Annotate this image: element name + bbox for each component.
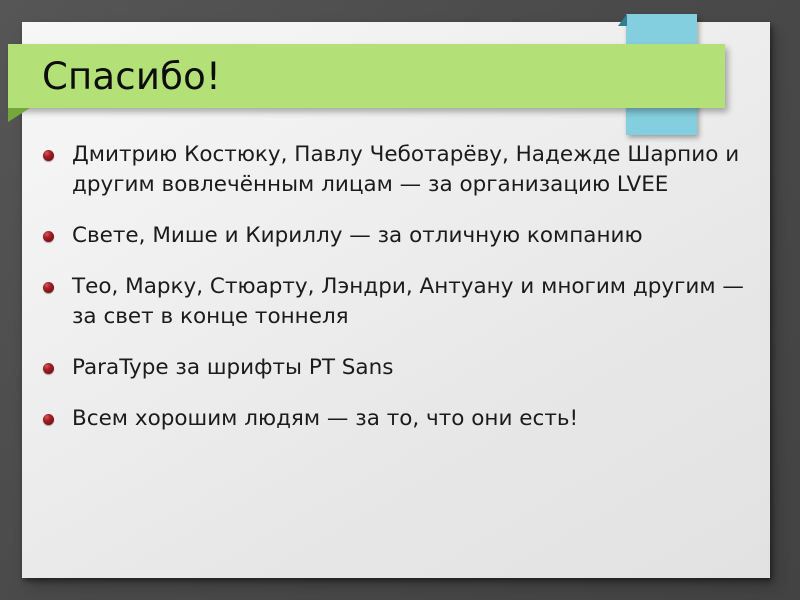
list-item-label: Дмитрию Костюку, Павлу Чеботарёву, Надеж… [72,140,746,200]
presentation-stage: Спасибо! Дмитрию Костюку, Павлу Чеботарё… [0,0,800,600]
list-item-label: Свете, Мише и Кириллу — за отличную комп… [72,221,746,251]
bullet-dot-icon [43,414,54,425]
list-item: Всем хорошим людям — за то, что они есть… [40,404,746,434]
bullet-dot-icon [43,150,54,161]
bullet-dot-icon [43,282,54,293]
list-item: Свете, Мише и Кириллу — за отличную комп… [40,221,746,251]
bullet-dot-icon [43,363,54,374]
list-item: Дмитрию Костюку, Павлу Чеботарёву, Надеж… [40,140,746,200]
list-item-label: ParaType за шрифты PT Sans [72,353,746,383]
page-title: Спасибо! [8,58,221,95]
bullet-dot-icon [43,231,54,242]
list-item-label: Тео, Марку, Стюарту, Лэндри, Антуану и м… [72,272,746,332]
list-item-label: Всем хорошим людям — за то, что они есть… [72,404,746,434]
title-banner: Спасибо! [8,44,725,108]
list-item: ParaType за шрифты PT Sans [40,353,746,383]
bullet-list: Дмитрию Костюку, Павлу Чеботарёву, Надеж… [40,140,746,434]
list-item: Тео, Марку, Стюарту, Лэндри, Антуану и м… [40,272,746,332]
